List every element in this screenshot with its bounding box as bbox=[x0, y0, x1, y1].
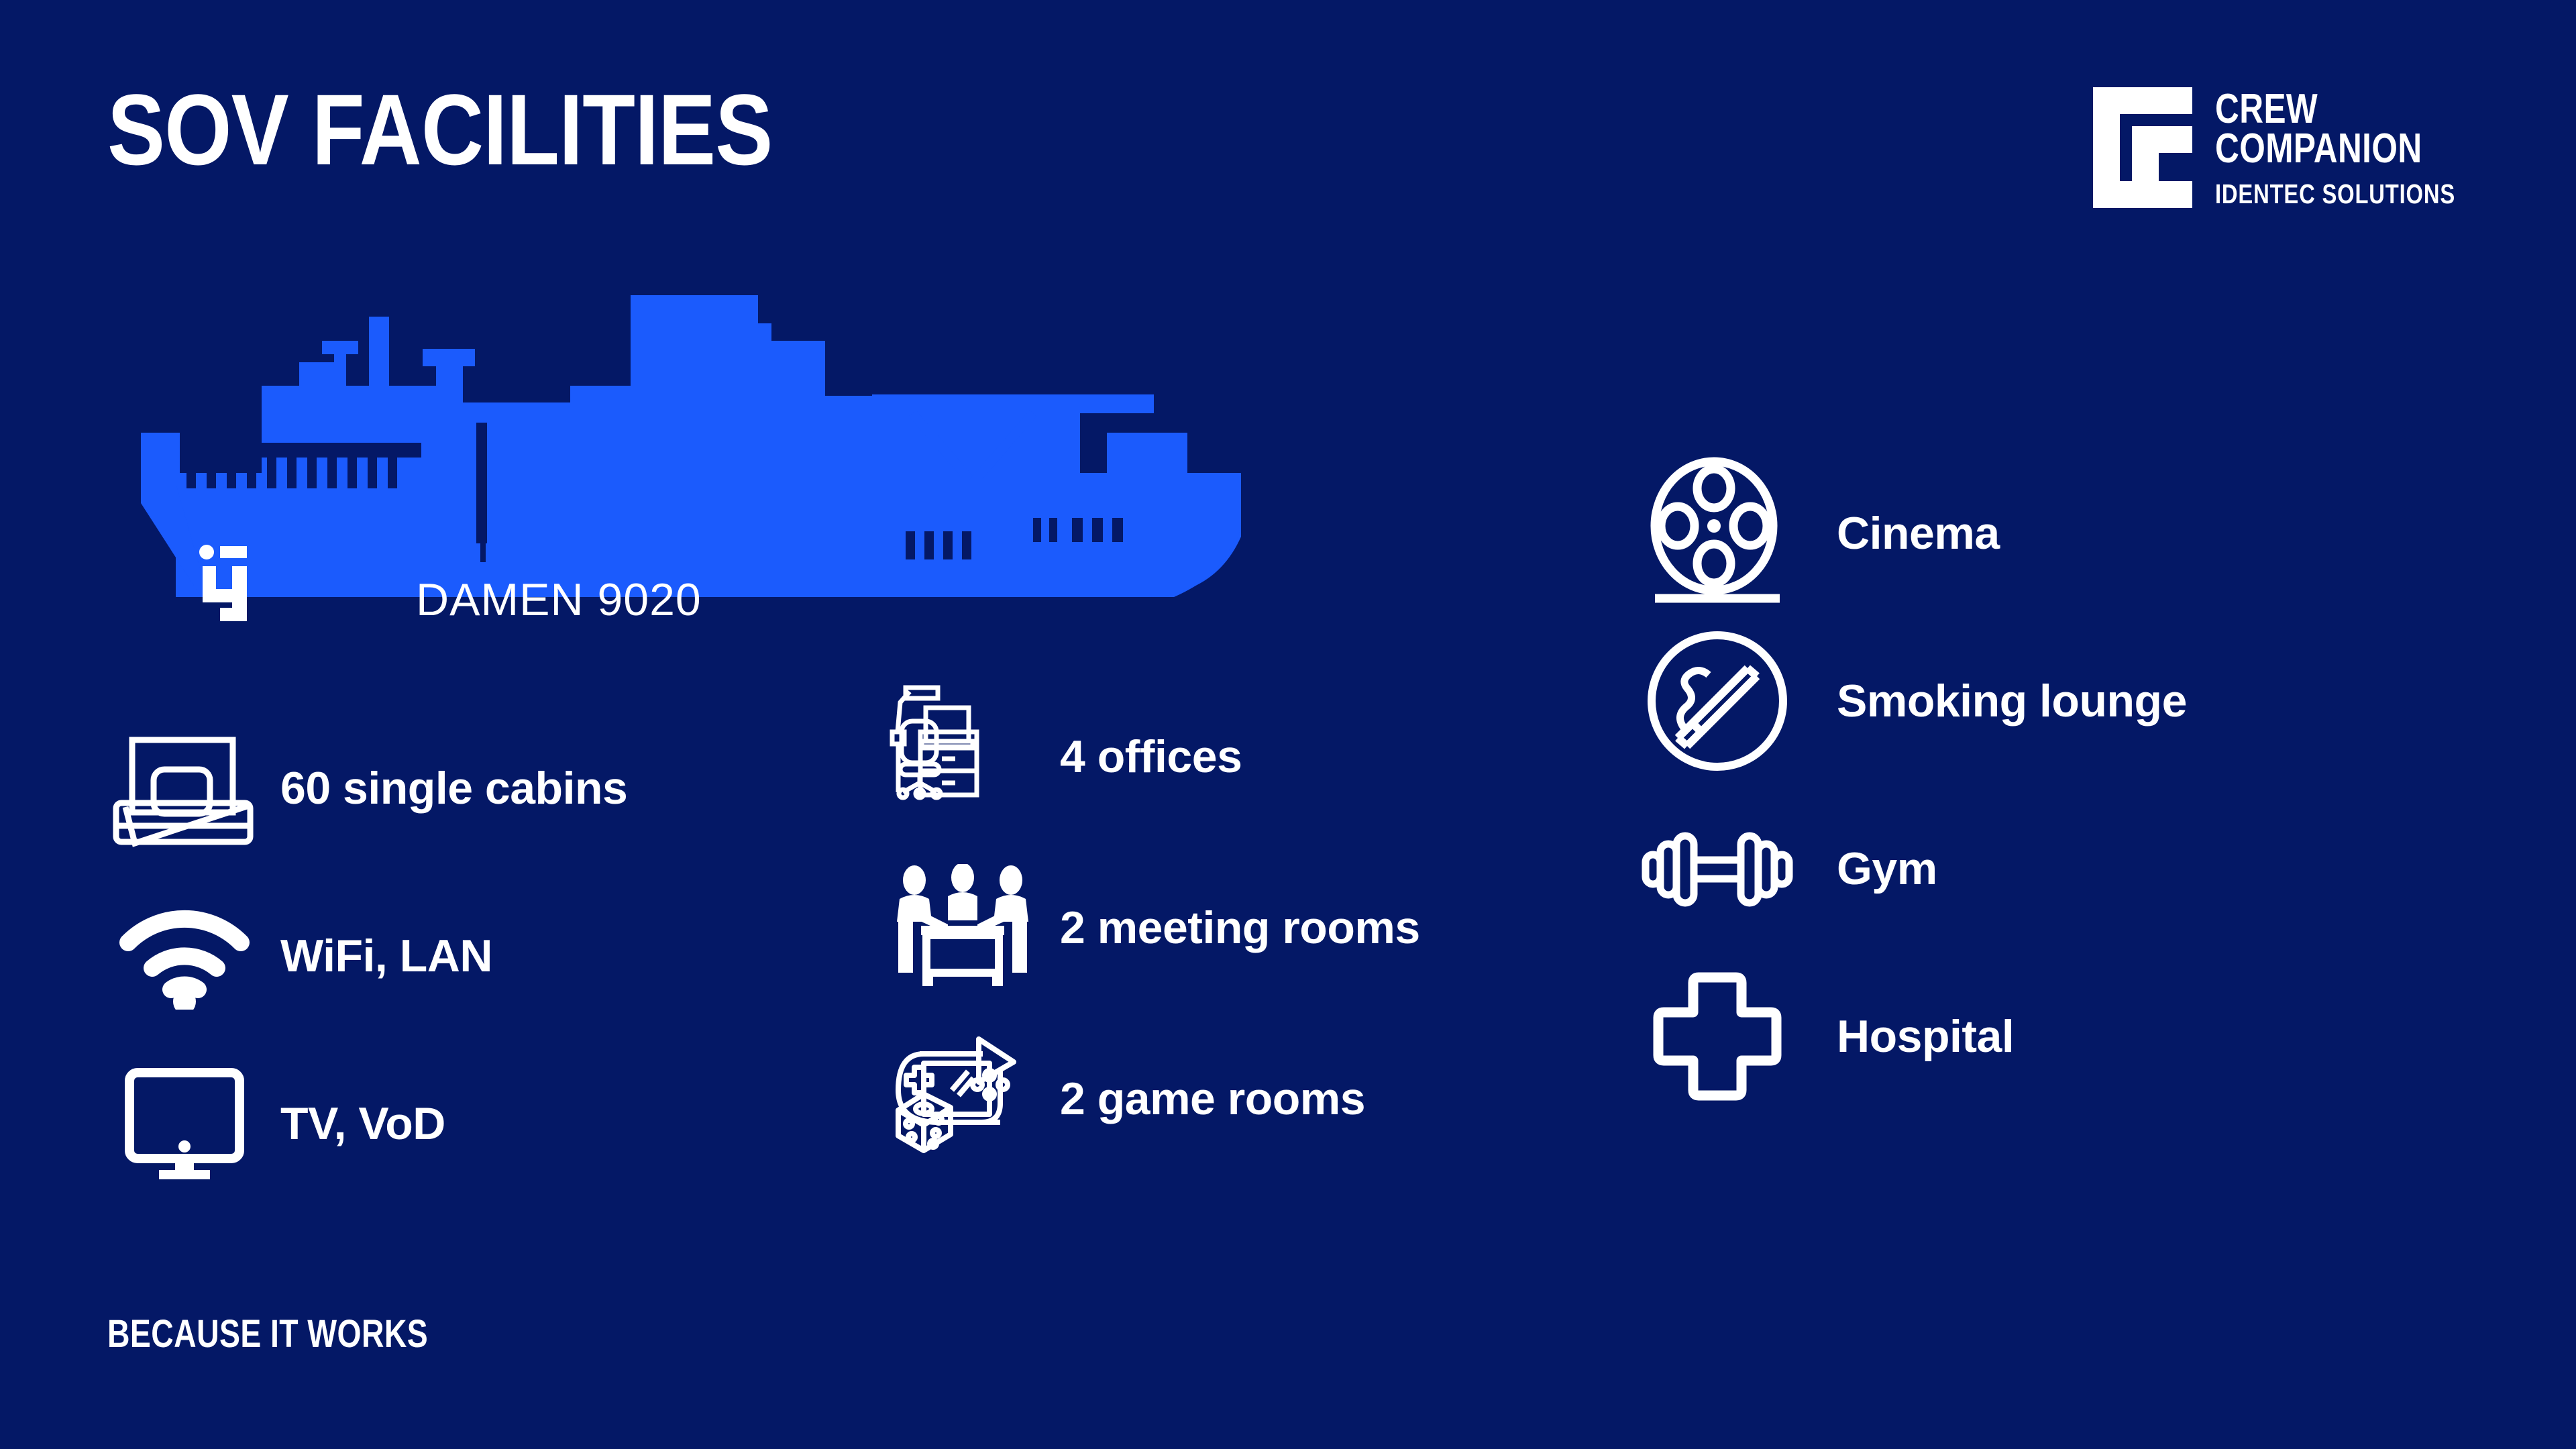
feature-label: Gym bbox=[1837, 846, 1937, 892]
dumbbell-icon bbox=[1630, 792, 1805, 946]
crew-companion-monogram-icon bbox=[2093, 87, 2192, 208]
feature-label: 2 game rooms bbox=[1060, 1076, 1365, 1122]
feature-column-middle: 4 offices bbox=[879, 671, 1420, 1184]
vessel-name-label: DAMEN 9020 bbox=[416, 574, 702, 626]
handheld-console-icon bbox=[879, 1025, 1046, 1173]
feature-row-cabins: 60 single cabins bbox=[101, 704, 627, 872]
film-reel-icon bbox=[1630, 456, 1805, 610]
feature-label: TV, VoD bbox=[280, 1101, 445, 1146]
meeting-table-icon bbox=[879, 854, 1046, 1002]
feature-label: 2 meeting rooms bbox=[1060, 905, 1420, 951]
feature-label: WiFi, LAN bbox=[280, 933, 492, 979]
feature-row-meeting: 2 meeting rooms bbox=[879, 842, 1420, 1013]
feature-row-tv: TV, VoD bbox=[101, 1040, 627, 1207]
feature-column-left: 60 single cabins WiFi, LAN bbox=[101, 704, 627, 1207]
page-title: SOV FACILITIES bbox=[107, 79, 772, 180]
feature-row-offices: 4 offices bbox=[879, 671, 1420, 842]
smoking-icon bbox=[1630, 624, 1805, 778]
feature-label: 60 single cabins bbox=[280, 765, 627, 811]
feature-row-gym: Gym bbox=[1630, 785, 2187, 953]
feature-row-game: 2 game rooms bbox=[879, 1013, 1420, 1184]
medical-cross-icon bbox=[1630, 959, 1805, 1114]
feature-column-right: Cinema Smoki bbox=[1630, 449, 2187, 1120]
logo-line-companion: COMPANION bbox=[2215, 129, 2455, 169]
feature-label: Hospital bbox=[1837, 1014, 2014, 1059]
feature-row-cinema: Cinema bbox=[1630, 449, 2187, 617]
monitor-icon bbox=[101, 1057, 268, 1191]
slide-root: SOV FACILITIES CREW COMPANION IDENTEC SO… bbox=[0, 0, 2576, 1449]
feature-label: Smoking lounge bbox=[1837, 678, 2187, 724]
feature-row-smoking: Smoking lounge bbox=[1630, 617, 2187, 785]
feature-label: Cinema bbox=[1837, 511, 2000, 556]
bed-icon bbox=[101, 721, 268, 855]
office-desk-icon bbox=[879, 683, 1046, 830]
feature-label: 4 offices bbox=[1060, 734, 1242, 780]
brand-logo: CREW COMPANION IDENTEC SOLUTIONS bbox=[2093, 87, 2516, 211]
logo-line-crew: CREW bbox=[2215, 90, 2455, 129]
wifi-icon bbox=[101, 889, 268, 1023]
logo-wordmark: CREW COMPANION IDENTEC SOLUTIONS bbox=[2215, 87, 2516, 211]
feature-row-hospital: Hospital bbox=[1630, 953, 2187, 1120]
footer-tagline: BECAUSE IT WORKS bbox=[107, 1311, 428, 1356]
logo-line-identec: IDENTEC SOLUTIONS bbox=[2215, 177, 2455, 211]
feature-row-wifi: WiFi, LAN bbox=[101, 872, 627, 1040]
